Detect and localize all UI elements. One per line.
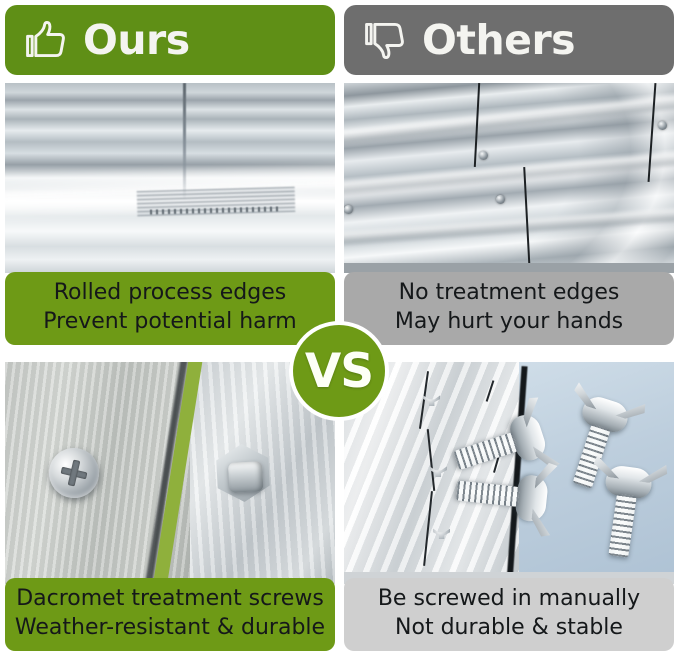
caption-line-2: Not durable & stable (348, 613, 670, 642)
photo-untreated-edges (344, 83, 674, 273)
screw-point (658, 121, 667, 130)
thumbs-down-icon (362, 18, 406, 62)
caption-line-2: May hurt your hands (348, 307, 670, 336)
vs-label: VS (305, 348, 373, 395)
bolt-shank (228, 462, 264, 494)
photo-wing-bolts (344, 362, 674, 584)
column-ours: Ours Rolled process edges Prevent potent… (3, 0, 337, 655)
caption-top-left: Rolled process edges Prevent potential h… (5, 272, 335, 345)
header-ours: Ours (5, 5, 335, 75)
caption-line-1: Rolled process edges (9, 278, 331, 307)
caption-line-2: Weather-resistant & durable (9, 613, 331, 642)
column-others: Others No treatment edges May hurt your … (342, 0, 676, 655)
vs-badge: VS (293, 325, 385, 417)
header-others: Others (344, 5, 674, 75)
caption-line-2: Prevent potential harm (9, 307, 331, 336)
caption-line-1: Dacromet treatment screws (9, 584, 331, 613)
comparison-infographic: Ours Rolled process edges Prevent potent… (0, 0, 679, 655)
screw-point (496, 195, 505, 204)
caption-top-right: No treatment edges May hurt your hands (344, 272, 674, 345)
photo-rolled-edges (5, 83, 335, 273)
caption-line-1: No treatment edges (348, 278, 670, 307)
thumbs-up-icon (23, 18, 67, 62)
photo-dacromet-screws (5, 362, 335, 584)
caption-bottom-left: Dacromet treatment screws Weather-resist… (5, 578, 335, 651)
header-ours-label: Ours (83, 20, 190, 61)
caption-line-1: Be screwed in manually (348, 584, 670, 613)
screw-point (344, 205, 353, 214)
header-others-label: Others (422, 20, 575, 61)
caption-bottom-right: Be screwed in manually Not durable & sta… (344, 578, 674, 651)
